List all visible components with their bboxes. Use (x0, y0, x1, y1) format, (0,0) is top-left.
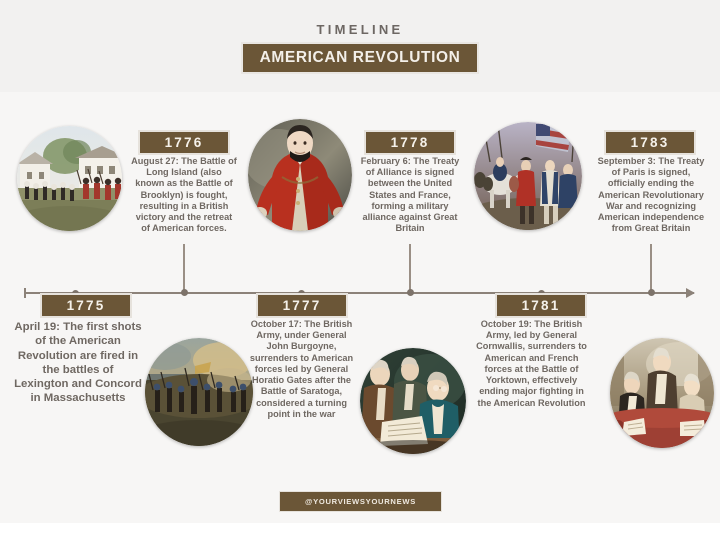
year-badge-1783: 1783 (604, 130, 696, 155)
footer-handle-banner: @YOURVIEWSYOURNEWS (279, 491, 442, 512)
event-description-1778: February 6: The Treaty of Alliance is si… (357, 156, 463, 287)
year-badge-1775: 1775 (40, 293, 132, 318)
page-title: AMERICAN REVOLUTION (260, 49, 461, 67)
image-battle-of-lexington-painting (17, 126, 122, 231)
event-description-1776: August 27: The Battle of Long Island (al… (131, 156, 237, 287)
year-label-1781: 1781 (522, 298, 561, 313)
header-band: TIMELINE AMERICAN REVOLUTION (0, 0, 720, 92)
bottom-strip (0, 523, 720, 539)
image-treaty-of-alliance-signing-painting (360, 348, 466, 454)
connector-dot-1783 (648, 289, 655, 296)
year-label-1776: 1776 (165, 135, 204, 150)
connector-dot-1776 (181, 289, 188, 296)
year-badge-1777: 1777 (256, 293, 348, 318)
image-surrender-at-yorktown-painting (474, 122, 582, 230)
image-general-burgoyne-portrait (248, 119, 352, 231)
event-description-1783: September 3: The Treaty of Paris is sign… (597, 156, 705, 290)
connector-dot-1778 (407, 289, 414, 296)
image-battle-of-long-island-painting (145, 338, 253, 446)
year-label-1775: 1775 (67, 298, 106, 313)
year-badge-1778: 1778 (364, 130, 456, 155)
timeline-infographic: TIMELINE AMERICAN REVOLUTION 1775 April … (0, 0, 720, 539)
year-label-1778: 1778 (391, 135, 430, 150)
event-description-1781: October 19: The British Army, led by Gen… (473, 319, 590, 467)
year-label-1777: 1777 (283, 298, 322, 313)
event-description-1777: October 17: The British Army, under Gene… (245, 319, 358, 459)
axis-start-cap (24, 288, 26, 298)
year-badge-1776: 1776 (138, 130, 230, 155)
year-label-1783: 1783 (631, 135, 670, 150)
title-banner: AMERICAN REVOLUTION (241, 42, 479, 74)
event-description-1775: April 19: The first shots of the America… (14, 320, 142, 468)
image-treaty-of-paris-painting (610, 338, 714, 448)
kicker-label: TIMELINE (0, 22, 720, 37)
year-badge-1781: 1781 (495, 293, 587, 318)
footer-handle-label: @YOURVIEWSYOURNEWS (305, 497, 416, 506)
